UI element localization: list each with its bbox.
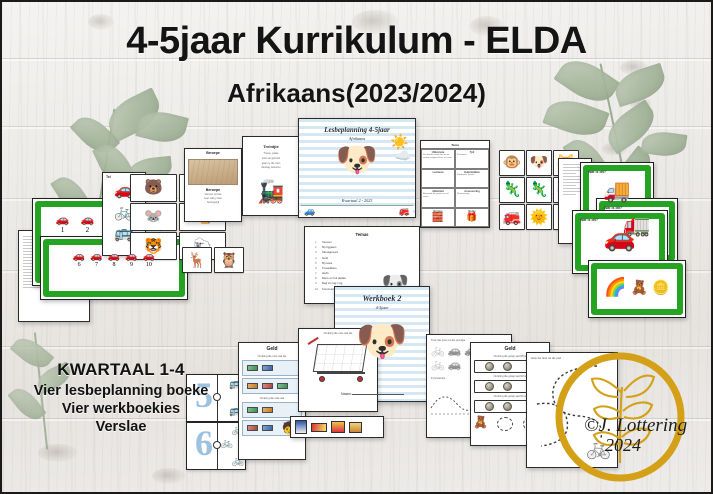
vehicle-card-label: Wat is dit?: [588, 170, 646, 174]
animal-flashcard-row: 🦌 🦉: [182, 247, 244, 273]
page-subtitle: Afrikaans(2023/2024): [2, 78, 711, 109]
firetruck-icon: 🚒: [399, 207, 410, 216]
page-title: 4-5jaar Kurrikulum - ELDA: [2, 20, 711, 63]
banknote: [262, 425, 273, 431]
cell-body: Waarneming: [457, 193, 487, 196]
blocks-icon: 🧱: [423, 213, 453, 222]
caption-line-4: Verslae: [26, 419, 216, 435]
lesson-plan-cover: Lesbeplanning 4-5jaar Afrikaans 🐶 ☀️ ☁️ …: [298, 118, 416, 218]
workbook-cover-subtitle: 4-5jaar: [335, 305, 429, 310]
beroepe-photo: [188, 159, 238, 185]
product-icon: [331, 421, 345, 433]
wood-knot: [38, 444, 78, 462]
count-number: 8: [108, 262, 120, 268]
bicycle-icon: 🚲: [431, 360, 445, 371]
beroepe-card: Beroepe Beroepe Vervoer prente Leer wat …: [184, 148, 242, 222]
lesson-plan-grid-title: Tema: [421, 141, 489, 149]
lesson-plan-cell: Tyd 30 minute: [455, 149, 489, 169]
name-label: Naam:: [341, 392, 352, 396]
lesson-plan-cover-title: Lesbeplanning 4-5jaar: [299, 126, 415, 134]
watermark: ©J. Lottering 2024: [550, 347, 690, 487]
count-number: 10: [143, 262, 155, 268]
caption-line-3: Vier werkboekies: [26, 401, 216, 417]
lesson-plan-cell: Notas 🎁: [455, 208, 489, 228]
gift-icon: 🎁: [457, 213, 487, 222]
truck-icon: 🚚: [588, 180, 646, 202]
cell-body: Die leerder moet kan tel en sorteer volg…: [423, 154, 453, 160]
red-car-icon: 🚗: [580, 224, 660, 250]
car-icon: 🚙: [304, 207, 315, 216]
banknote: [262, 407, 273, 413]
banknote: [247, 407, 258, 413]
worksheet-instruction: Omkring die note wat die: [239, 355, 305, 358]
car-icon: 🚗: [448, 346, 462, 357]
wood-knot: [152, 468, 186, 484]
product-icon: [311, 423, 327, 432]
flashcard: 🦌: [182, 247, 212, 273]
rainbow-icon: 🌈: [604, 278, 626, 296]
banknote: [262, 383, 273, 389]
bear-icon: 🧸: [631, 280, 648, 294]
flashcard: 🐶: [526, 150, 552, 176]
flashcard: 🦉: [214, 247, 244, 273]
lesson-plan-cell: Assessering Waarneming: [455, 188, 489, 208]
dog-illustration: 🐶: [335, 320, 429, 362]
lesson-plan-cell: Aktiwiteit Bespreek die prente en tel sa…: [421, 188, 455, 208]
train-card-title: Treintjie: [243, 145, 299, 149]
beroepe-card-title: Beroepe: [185, 152, 241, 156]
flashcard: 🚒: [499, 204, 525, 230]
lesson-plan-cell: Uitkomste Die leerder moet kan tel en so…: [421, 149, 455, 169]
leaf: [641, 129, 688, 159]
cover-footer: Kwartaal 2 - 2023: [299, 198, 415, 203]
lesson-plan-cell: Hulpmiddels Flitskaarte, prente: [455, 169, 489, 189]
flashcard: 🦎: [499, 177, 525, 203]
banknote: [247, 365, 258, 371]
worksheet-instruction: Trek die lyne na die prentjie: [427, 335, 511, 342]
workbook-name-line: Naam:: [341, 392, 404, 396]
watermark-text: ©J. Lottering: [584, 415, 687, 436]
banknote: [247, 425, 258, 431]
wood-knot: [602, 142, 628, 156]
counting-card-row-inner: 🚗6 🚗7 🚗8 🚗9 🚗10: [48, 252, 180, 300]
vehicle-card-rainbow: 🌈 🧸 🪙: [588, 260, 686, 318]
flashcard: 🐵: [499, 150, 525, 176]
beroepe-line: Soortgelyk: [185, 201, 241, 205]
product-strip: [290, 416, 384, 438]
watermark-year: 2024: [605, 435, 641, 455]
caption-line-1: KWARTAAL 1-4: [26, 360, 216, 380]
cell-body: 30 minute: [457, 154, 487, 157]
car-icon: 🚗: [448, 360, 462, 371]
leaf: [135, 107, 189, 148]
cell-body: Bespreek die prente en tel saam.: [423, 193, 453, 199]
cell-heading: Leerarea: [423, 171, 453, 174]
caption-block: KWARTAAL 1-4 Vier lesbeplanning boeke Vi…: [26, 360, 216, 435]
bear-icon: 🧸: [473, 416, 488, 428]
temas-title: Temas: [305, 232, 419, 237]
banknote: [247, 383, 258, 389]
flashcard: 🐭: [130, 203, 177, 231]
count-number: 9: [125, 262, 137, 268]
lesson-plan-grid-document: Tema Uitkomste Die leerder moet kan tel …: [420, 140, 490, 228]
cloud-icon: ☁️: [395, 149, 411, 162]
cell-body: Flitskaarte, prente: [457, 174, 487, 177]
count-number: 7: [90, 262, 102, 268]
lesson-plan-cell: Bronne 🧱: [421, 208, 455, 228]
worksheet-instruction: Omkring die note wat: [239, 397, 305, 400]
lesson-plan-cell: Leerarea: [421, 169, 455, 189]
vehicle-card-label: Wat is dit?: [604, 206, 670, 210]
vehicle-card-inner: Wat is dit? 🚗: [580, 218, 660, 266]
lesson-plan-cover-footer: Kwartaal 2 - 2023: [299, 198, 415, 203]
coin-icon: [485, 402, 494, 411]
workbook-cover-title: Werkboek 2: [335, 294, 429, 303]
coin-icon: [485, 362, 494, 371]
flashcard: 🦎: [526, 177, 552, 203]
coin-icon: [503, 382, 512, 391]
bicycle-icon: 🚲: [431, 346, 445, 357]
shopping-cart-frame: [317, 372, 365, 374]
shopping-cart-wheel: [357, 376, 363, 382]
train-icon: 🚂: [243, 181, 299, 203]
train-card: Treintjie Treine, paaie soos ek gebruik …: [242, 136, 300, 216]
coin-icon: [503, 402, 512, 411]
lesson-plan-cells: Uitkomste Die leerder moet kan tel en so…: [421, 149, 489, 227]
worksheet-title: Geld: [239, 346, 305, 352]
product-icon: [349, 422, 362, 433]
banknote: [262, 365, 273, 371]
vehicle-card-inner: 🌈 🧸 🪙: [596, 278, 678, 318]
product-icon: [295, 420, 307, 434]
coin-icon: [485, 382, 494, 391]
money-row: [242, 378, 302, 394]
money-row: [242, 360, 302, 376]
count-number: 2: [81, 226, 95, 234]
product-cover-canvas: 4-5jaar Kurrikulum - ELDA Afrikaans(2023…: [0, 0, 713, 494]
flashcard: 🌞: [526, 204, 552, 230]
count-number: 6: [73, 262, 85, 268]
bicycle-icon: 🚲: [221, 439, 233, 449]
banknote: [277, 383, 288, 389]
vehicle-card-red-car: Wat is dit? 🚗: [572, 210, 668, 274]
count-number: 1: [56, 226, 70, 234]
train-line: deurlag oefenine: [243, 166, 299, 171]
circle-target: [497, 417, 513, 431]
shopping-cart-wheel: [319, 376, 325, 382]
leaf: [70, 109, 121, 160]
coin-icon: [503, 362, 512, 371]
cover-text: Werkboek 2 4-5jaar: [335, 294, 429, 310]
caption-line-2: Vier lesbeplanning boeke: [26, 383, 216, 399]
pot-of-gold-icon: 🪙: [652, 280, 669, 294]
flashcard: 🐻: [130, 174, 177, 202]
beroepe-caption: Beroepe: [185, 188, 241, 192]
money-shopping-worksheet: Geld Omkring die note wat die Omkring di…: [238, 342, 306, 460]
